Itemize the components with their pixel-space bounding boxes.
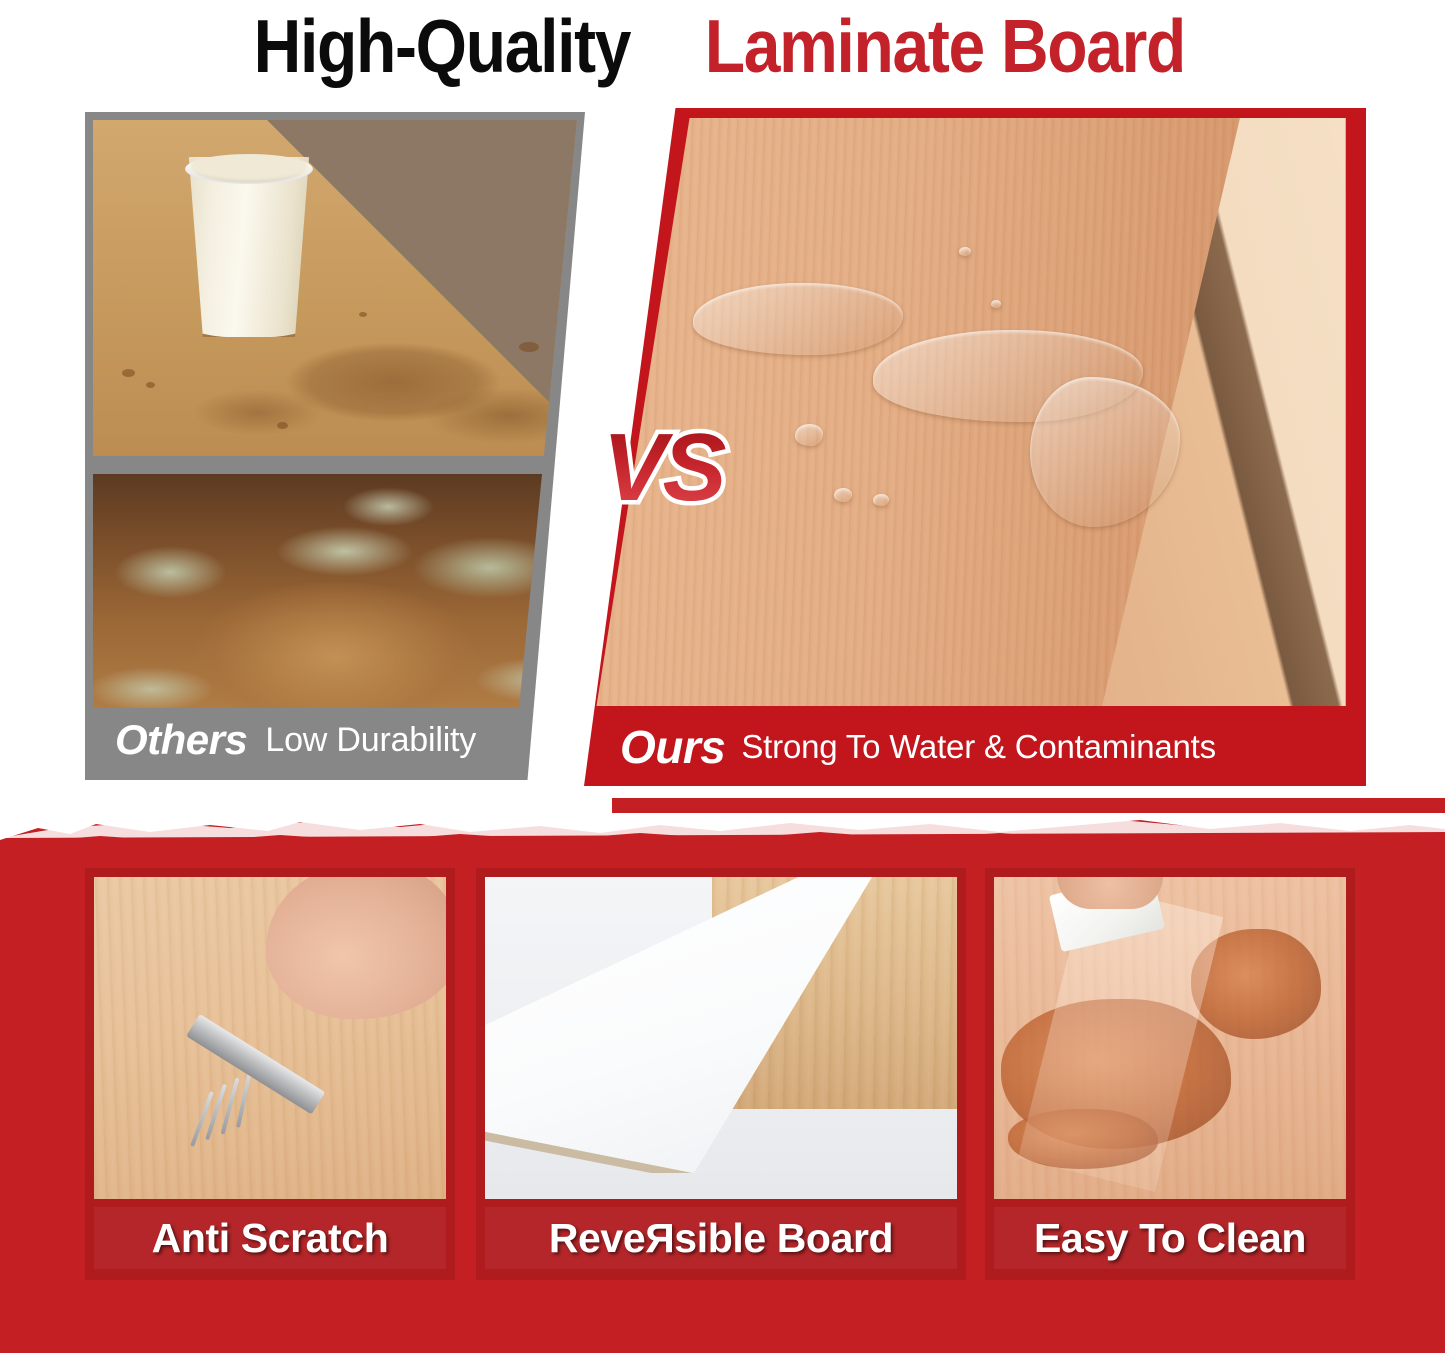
title-black-part: High-Quality [253, 9, 629, 84]
feature-label-easy-to-clean: Easy To Clean [994, 1207, 1346, 1269]
water-droplet [991, 300, 1001, 308]
paper-cup-rim-icon [185, 154, 313, 184]
ours-label-text: Ours [620, 720, 725, 774]
others-label-text: Others [115, 716, 247, 764]
feature-label-anti-scratch: Anti Scratch [94, 1207, 446, 1269]
hand [1057, 877, 1163, 909]
reversible-board-image [485, 877, 957, 1199]
water-droplet [795, 424, 823, 446]
spill-droplet [277, 422, 288, 429]
ours-subtitle-text: Strong To Water & Contaminants [741, 728, 1216, 766]
spill-droplet [359, 312, 367, 317]
reversible-board-photo [485, 877, 957, 1199]
easy-to-clean-photo [994, 877, 1346, 1199]
feature-card-easy-to-clean: Easy To Clean [985, 868, 1355, 1280]
product-infographic: High-Quality Laminate Board Others Low D… [0, 0, 1445, 1353]
water-droplet [959, 247, 971, 256]
spill-droplet [519, 342, 539, 352]
feature-label-reversible-board: ReveЯsible Board [485, 1207, 957, 1269]
page-title: High-Quality Laminate Board [0, 2, 1445, 90]
features-banner: Anti Scratch ReveЯsible Board [0, 840, 1445, 1353]
wipe-clean-image [994, 877, 1346, 1199]
others-caption: Others Low Durability [93, 708, 577, 772]
coffee-spill-photo [93, 120, 577, 456]
fork-tine [190, 1091, 214, 1147]
fork-scratch-image [94, 877, 446, 1199]
anti-scratch-photo [94, 877, 446, 1199]
others-panel: Others Low Durability [85, 112, 585, 780]
brush-stroke-divider [0, 798, 1445, 868]
water-droplet [834, 488, 852, 502]
feature-card-reversible-board: ReveЯsible Board [476, 868, 966, 1280]
title-red-part: Laminate Board [704, 9, 1184, 84]
others-photo-stack [93, 120, 577, 708]
vs-badge: VS [575, 415, 750, 520]
mold-growth-photo [93, 474, 577, 708]
spill-droplet [146, 382, 155, 388]
ours-caption: Ours Strong To Water & Contaminants [584, 712, 1366, 782]
water-droplet [873, 494, 889, 506]
feature-card-anti-scratch: Anti Scratch [85, 868, 455, 1280]
water-blob [693, 283, 903, 355]
comparison-section: Others Low Durability [0, 108, 1445, 788]
feature-row: Anti Scratch ReveЯsible Board [0, 868, 1445, 1308]
others-subtitle-text: Low Durability [265, 721, 476, 760]
spill-droplet [122, 369, 135, 377]
